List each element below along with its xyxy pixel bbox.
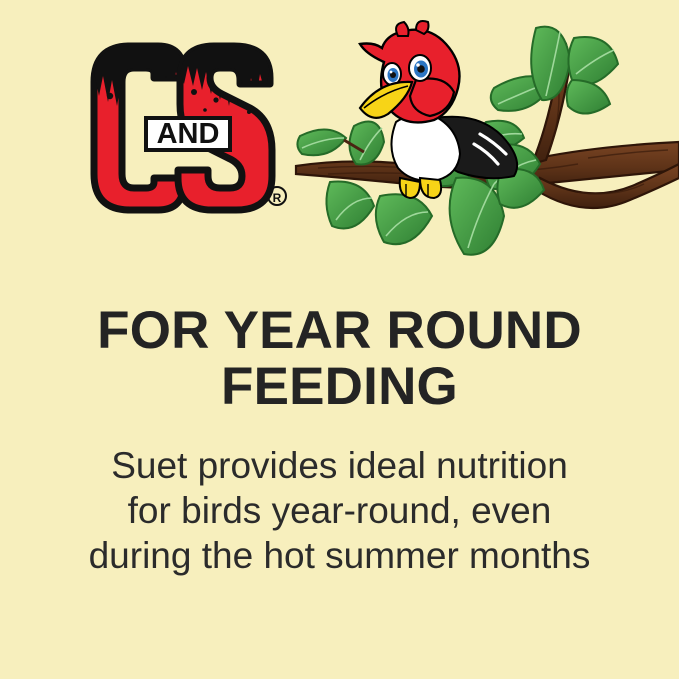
- brand-logo: AND R: [88, 34, 288, 224]
- leaf-cluster-left: [297, 122, 384, 165]
- bird-eye-right: [409, 55, 431, 81]
- logo-and-text: AND: [157, 118, 220, 150]
- hero-section: AND R: [0, 0, 679, 275]
- product-feature-card: AND R: [0, 0, 679, 679]
- bird-on-branch-illustration: [288, 18, 679, 270]
- bird-feet: [400, 178, 441, 198]
- logo-and-box: AND: [146, 118, 230, 150]
- body-copy: Suet provides ideal nutrition for birds …: [0, 443, 679, 578]
- svg-text:R: R: [273, 191, 282, 205]
- headline: FOR YEAR ROUND FEEDING: [0, 303, 679, 415]
